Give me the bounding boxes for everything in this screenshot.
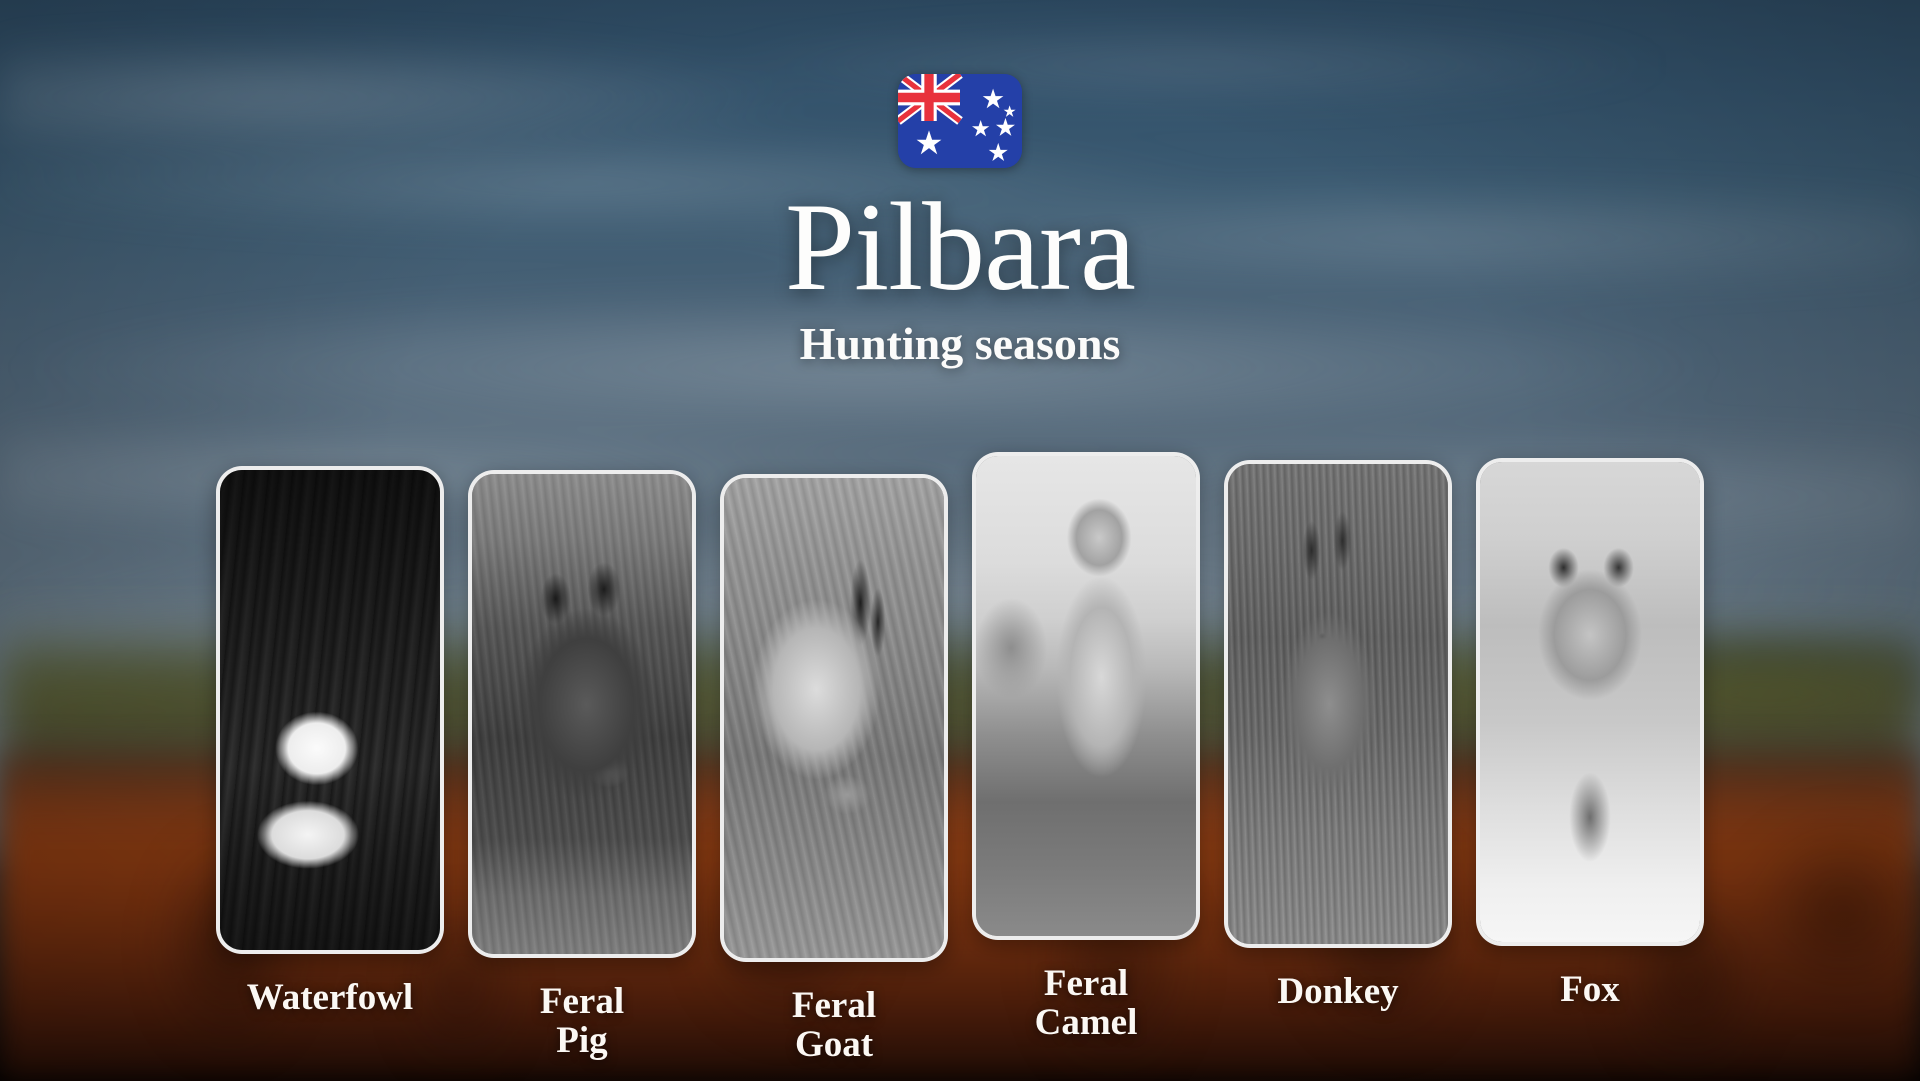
page-header: Pilbara Hunting seasons xyxy=(0,0,1920,369)
species-item-feral-camel[interactable]: Feral Camel xyxy=(972,452,1200,1042)
fox-photo xyxy=(1480,462,1700,942)
page-subtitle: Hunting seasons xyxy=(0,319,1920,370)
feral-pig-photo xyxy=(472,474,692,954)
waterfowl-photo xyxy=(220,470,440,950)
species-label: Feral Camel xyxy=(1035,964,1138,1042)
species-item-feral-pig[interactable]: Feral Pig xyxy=(468,470,696,1060)
page-title: Pilbara xyxy=(0,184,1920,313)
species-item-feral-goat[interactable]: Feral Goat xyxy=(720,474,948,1064)
species-card[interactable] xyxy=(720,474,948,962)
donkey-photo xyxy=(1228,464,1448,944)
species-card[interactable] xyxy=(216,466,444,954)
species-label: Feral Goat xyxy=(792,986,876,1064)
feral-camel-photo xyxy=(976,456,1196,936)
species-label: Donkey xyxy=(1277,972,1398,1011)
species-card[interactable] xyxy=(1224,460,1452,948)
page-root: Pilbara Hunting seasons Waterfowl Feral … xyxy=(0,0,1920,1081)
species-card[interactable] xyxy=(972,452,1200,940)
australia-flag-icon xyxy=(898,74,1022,168)
species-card[interactable] xyxy=(468,470,696,958)
species-item-waterfowl[interactable]: Waterfowl xyxy=(216,466,444,1017)
species-label: Fox xyxy=(1560,970,1620,1009)
feral-goat-photo xyxy=(724,478,944,958)
species-card-row: Waterfowl Feral Pig Feral Goat Feral Cam… xyxy=(0,452,1920,1064)
species-item-donkey[interactable]: Donkey xyxy=(1224,460,1452,1011)
species-label: Feral Pig xyxy=(540,982,624,1060)
species-label: Waterfowl xyxy=(247,978,413,1017)
species-item-fox[interactable]: Fox xyxy=(1476,458,1704,1009)
species-card[interactable] xyxy=(1476,458,1704,946)
